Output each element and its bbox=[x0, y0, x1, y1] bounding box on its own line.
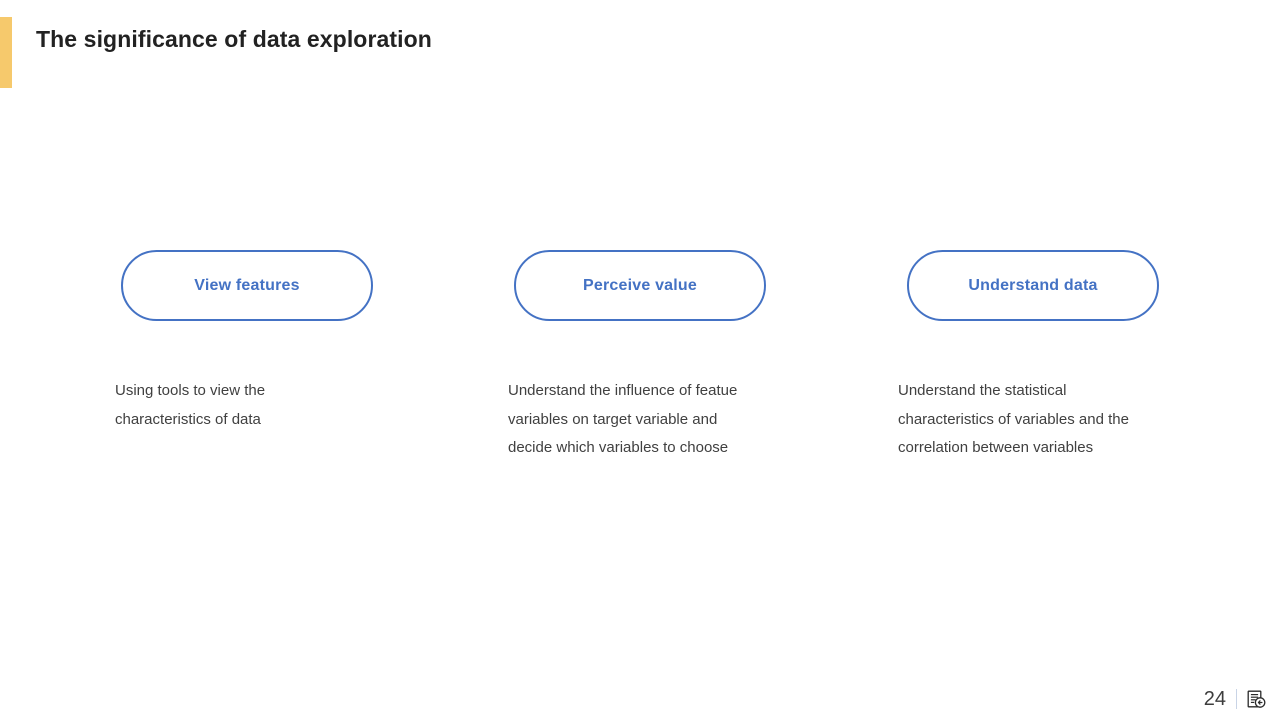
description-perceive-value: Understand the influence of featue varia… bbox=[508, 377, 793, 463]
pill-label: Understand data bbox=[968, 277, 1097, 295]
pill-label: View features bbox=[194, 277, 299, 295]
pill-perceive-value[interactable]: Perceive value bbox=[514, 250, 766, 321]
description-understand-data: Understand the statistical characteristi… bbox=[898, 377, 1183, 463]
pill-understand-data[interactable]: Understand data bbox=[907, 250, 1159, 321]
pill-view-features[interactable]: View features bbox=[121, 250, 373, 321]
pill-label: Perceive value bbox=[583, 277, 697, 295]
slide-footer: 24 bbox=[1204, 684, 1266, 714]
title-accent-bar bbox=[0, 17, 12, 88]
page-number: 24 bbox=[1204, 689, 1236, 709]
page-title: The significance of data exploration bbox=[36, 26, 432, 53]
document-back-arrow-icon[interactable] bbox=[1246, 689, 1266, 709]
slide-canvas: The significance of data exploration Vie… bbox=[0, 0, 1280, 720]
description-view-features: Using tools to view the characteristics … bbox=[115, 377, 365, 434]
footer-divider bbox=[1236, 689, 1237, 709]
